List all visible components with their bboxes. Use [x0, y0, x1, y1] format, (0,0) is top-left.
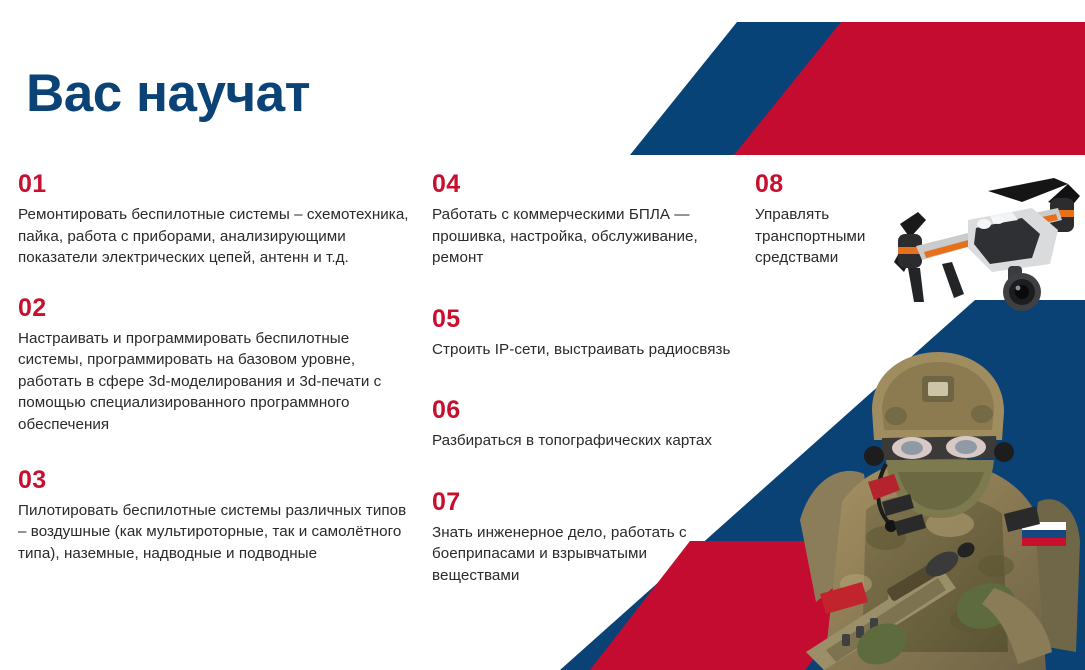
item-text-02: Настраивать и программировать беспилотны… [18, 328, 418, 436]
item-text-04: Работать с коммерческими БПЛА — прошивка… [432, 204, 732, 269]
column-2: 04 Работать с коммерческими БПЛА — проши… [432, 172, 732, 587]
item-text-06: Разбираться в топографических картах [432, 430, 732, 452]
list-item: 04 Работать с коммерческими БПЛА — проши… [432, 172, 732, 269]
item-number-03: 03 [18, 468, 418, 493]
soldier-headset-earcup-left [864, 446, 884, 466]
drone-landing-leg-1 [908, 268, 924, 302]
soldier-headset-earcup-right [994, 442, 1014, 462]
list-item: 03 Пилотировать беспилотные системы разл… [18, 468, 418, 565]
soldier-image [790, 352, 1085, 670]
item-text-01: Ремонтировать беспилотные системы – схем… [18, 204, 418, 269]
item-number-04: 04 [432, 172, 732, 197]
list-item: 01 Ремонтировать беспилотные системы – с… [18, 172, 418, 269]
item-number-07: 07 [432, 490, 732, 515]
slide-root: Вас научат 01 Ремонтировать беспилотные … [0, 0, 1085, 670]
list-item: 06 Разбираться в топографических картах [432, 398, 732, 452]
soldier-goggles [880, 436, 998, 460]
list-item: 02 Настраивать и программировать беспило… [18, 296, 418, 436]
item-number-05: 05 [432, 307, 732, 332]
item-number-06: 06 [432, 398, 732, 423]
soldier-helmet [872, 352, 1004, 440]
item-number-02: 02 [18, 296, 418, 321]
column-1: 01 Ремонтировать беспилотные системы – с… [18, 172, 418, 564]
item-text-03: Пилотировать беспилотные системы различн… [18, 500, 418, 565]
list-item: 05 Строить IP-сети, выстраивать радиосвя… [432, 307, 732, 361]
page-title: Вас научат [26, 66, 310, 122]
top-banner-red-shape [734, 22, 1085, 155]
top-banner-blue-shape [630, 22, 1085, 155]
item-text-05: Строить IP-сети, выстраивать радиосвязь [432, 339, 732, 361]
drone-camera-gimbal [1003, 266, 1041, 311]
drone-image [872, 168, 1085, 368]
item-text-07: Знать инженерное дело, работать с боепри… [432, 522, 732, 587]
item-number-01: 01 [18, 172, 418, 197]
drone-landing-leg-2 [942, 262, 964, 298]
list-item: 07 Знать инженерное дело, работать с бое… [432, 490, 732, 587]
